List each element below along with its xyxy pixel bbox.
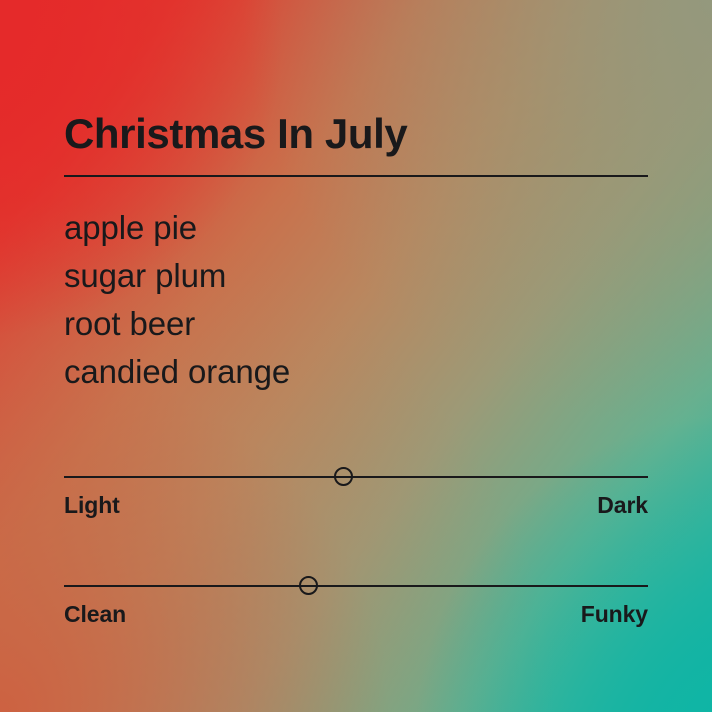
slider-roast-label-right: Dark (597, 490, 648, 520)
list-item: sugar plum (64, 252, 290, 300)
tasting-notes-list: apple pie sugar plum root beer candied o… (64, 204, 290, 396)
list-item: root beer (64, 300, 290, 348)
slider-flavor-profile-knob[interactable] (299, 576, 318, 595)
slider-flavor-profile-track[interactable] (64, 585, 648, 587)
slider-roast-track[interactable] (64, 476, 648, 478)
slider-roast-knob[interactable] (334, 467, 353, 486)
card-content: Christmas In July apple pie sugar plum r… (0, 0, 712, 712)
list-item: apple pie (64, 204, 290, 252)
title-divider (64, 175, 648, 177)
list-item: candied orange (64, 348, 290, 396)
slider-roast-label-left: Light (64, 490, 120, 520)
slider-flavor-profile-label-left: Clean (64, 599, 126, 629)
page-title: Christmas In July (64, 108, 407, 160)
coffee-tasting-card: Christmas In July apple pie sugar plum r… (0, 0, 712, 712)
slider-flavor-profile-label-right: Funky (581, 599, 648, 629)
slider-roast[interactable]: Light Dark (64, 448, 648, 506)
slider-flavor-profile-labels: Clean Funky (64, 599, 648, 629)
slider-roast-labels: Light Dark (64, 490, 648, 520)
slider-flavor-profile[interactable]: Clean Funky (64, 557, 648, 615)
